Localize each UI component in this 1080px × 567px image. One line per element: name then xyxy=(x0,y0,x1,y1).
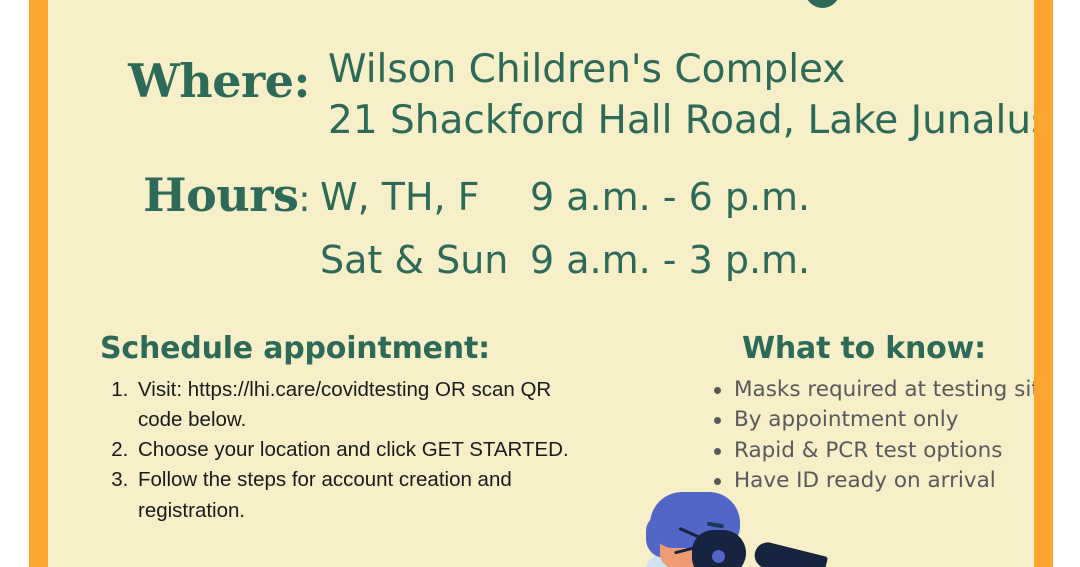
hours-row-1: W, TH, F 9 a.m. - 6 p.m. xyxy=(320,166,810,229)
where-address-line-2: 21 Shackford Hall Road, Lake Junaluska xyxy=(328,95,1034,146)
what-to-know-item-2: By appointment only xyxy=(696,405,1034,435)
schedule-appointment-section: Schedule appointment: Visit: https://lhi… xyxy=(100,332,600,526)
hours-times-2: 9 a.m. - 3 p.m. xyxy=(530,229,810,292)
hours-label-colon: : xyxy=(298,179,310,220)
schedule-step-2: Choose your location and click GET START… xyxy=(134,435,600,465)
hours-table: W, TH, F 9 a.m. - 6 p.m. Sat & Sun 9 a.m… xyxy=(320,166,810,292)
hours-row-2: Sat & Sun 9 a.m. - 3 p.m. xyxy=(320,229,810,292)
hours-days-1: W, TH, F xyxy=(320,166,530,229)
left-accent-bar xyxy=(29,0,48,567)
where-label: Where: xyxy=(110,44,310,104)
where-address: Wilson Children's Complex 21 Shackford H… xyxy=(328,44,1034,147)
hours-section: Hours: W, TH, F 9 a.m. - 6 p.m. Sat & Su… xyxy=(110,166,1034,292)
what-to-know-item-1: Masks required at testing site xyxy=(696,375,1034,405)
hours-label-text: Hours xyxy=(143,168,298,222)
what-to-know-list: Masks required at testing site By appoin… xyxy=(696,375,1034,496)
where-section: Where: Wilson Children's Complex 21 Shac… xyxy=(110,44,1030,147)
schedule-heading: Schedule appointment: xyxy=(100,332,600,365)
worker-mask-valve-shape xyxy=(712,550,725,563)
teardrop-accent-shape xyxy=(752,540,828,567)
what-to-know-item-3: Rapid & PCR test options xyxy=(696,436,1034,466)
masked-healthcare-worker-icon xyxy=(644,492,754,567)
hours-label: Hours: xyxy=(110,166,310,218)
cropped-headline-glyph xyxy=(805,0,840,8)
flyer-poster: Where: Wilson Children's Complex 21 Shac… xyxy=(0,0,1080,567)
schedule-step-1: Visit: https://lhi.care/covidtesting OR … xyxy=(134,375,600,435)
what-to-know-section: What to know: Masks required at testing … xyxy=(696,332,1034,496)
hours-times-1: 9 a.m. - 6 p.m. xyxy=(530,166,810,229)
where-address-line-1: Wilson Children's Complex xyxy=(328,44,1034,95)
right-accent-bar xyxy=(1034,0,1053,567)
schedule-step-3: Follow the steps for account creation an… xyxy=(134,465,600,525)
hours-days-2: Sat & Sun xyxy=(320,229,530,292)
poster-canvas: Where: Wilson Children's Complex 21 Shac… xyxy=(48,0,1034,567)
schedule-steps-list: Visit: https://lhi.care/covidtesting OR … xyxy=(100,375,600,526)
what-to-know-heading: What to know: xyxy=(696,332,1034,365)
